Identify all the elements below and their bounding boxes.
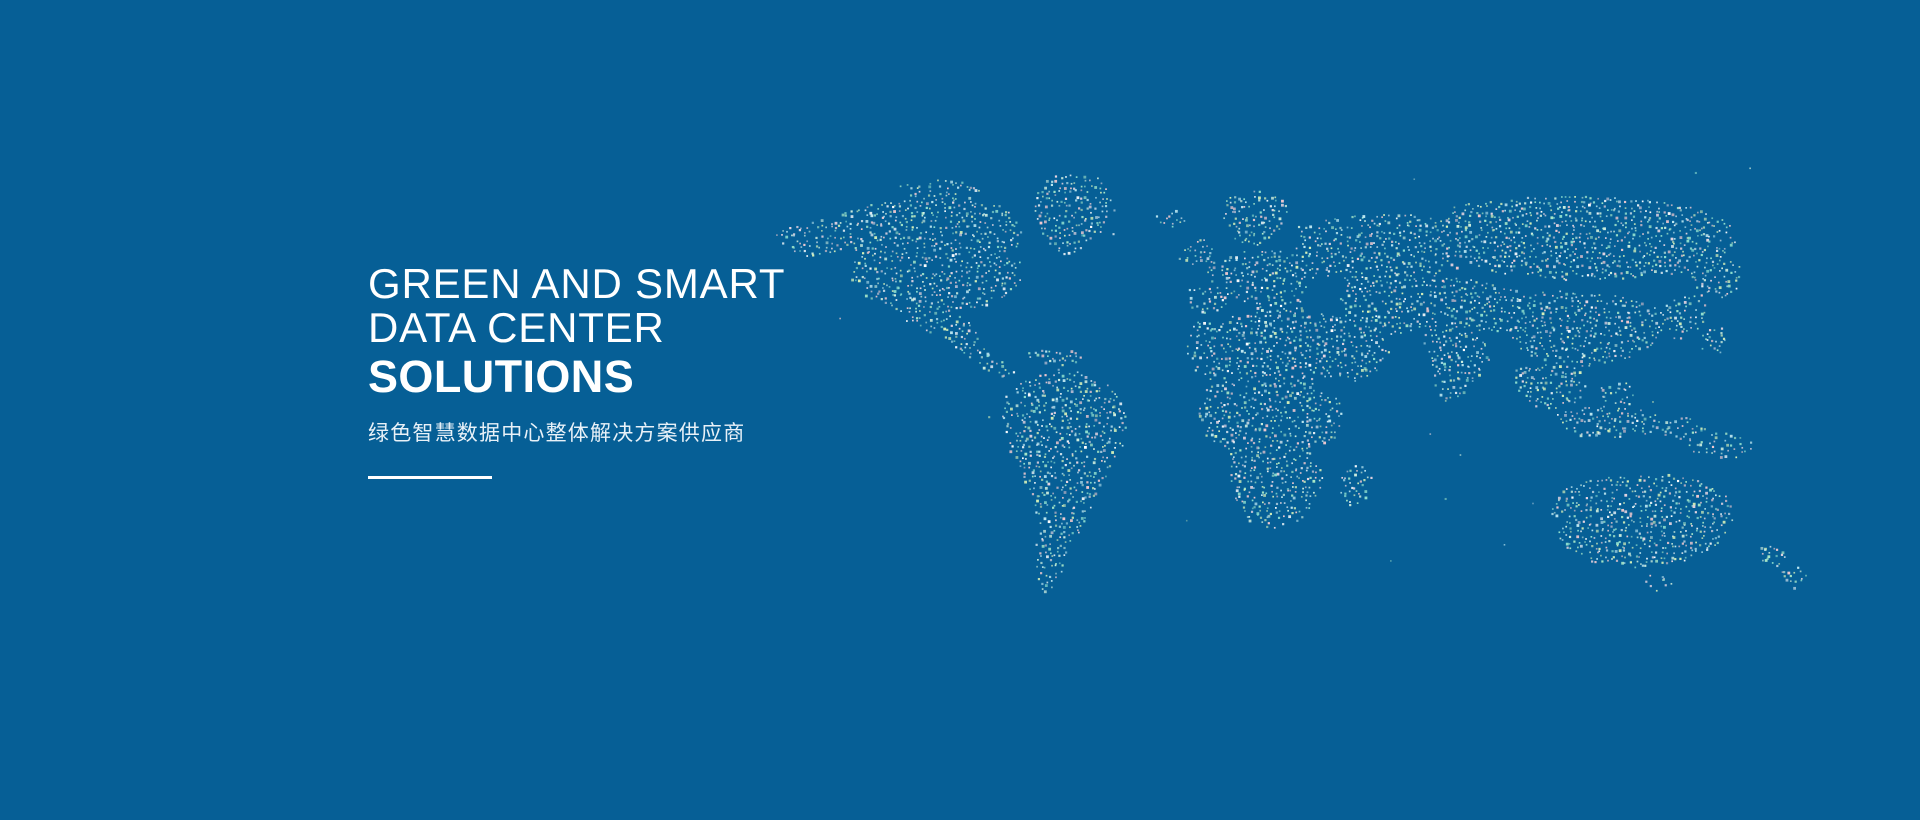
headline-line-2: DATA CENTER [368,306,1068,350]
hero-text-block: GREEN AND SMART DATA CENTER SOLUTIONS 绿色… [368,262,1068,479]
hero-subtitle: 绿色智慧数据中心整体解决方案供应商 [368,418,1068,448]
hero-banner: GREEN AND SMART DATA CENTER SOLUTIONS 绿色… [0,0,1920,820]
headline-line-1: GREEN AND SMART [368,262,1068,306]
hero-divider-rule [368,476,492,479]
headline-line-3: SOLUTIONS [368,352,1068,402]
